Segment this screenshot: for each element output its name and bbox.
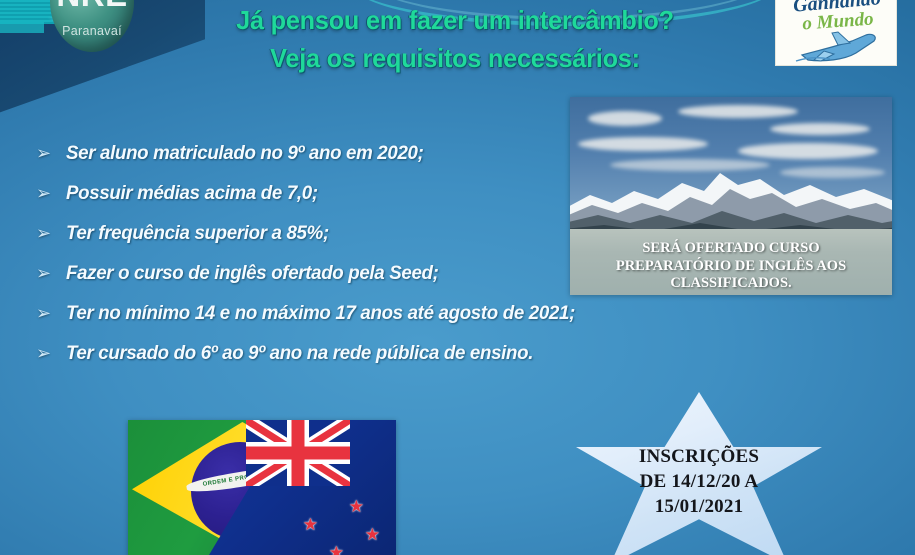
cloud-shape (738, 143, 878, 159)
nz-star-icon: ★ (329, 544, 344, 555)
airplane-icon (794, 31, 880, 65)
union-jack-icon (246, 420, 350, 486)
photo-caption-line-1: SERÁ OFERTADO CURSO (576, 240, 886, 258)
cloud-shape (588, 111, 662, 126)
requirement-text-6: Ter cursado do 6º ao 9º ano na rede públ… (66, 342, 738, 365)
inscriptions-line-1: INSCRIÇÕES (576, 444, 822, 469)
headline-line-1: Já pensou em fazer um intercâmbio? (145, 2, 766, 40)
bullet-arrow-icon: ➢ (36, 305, 66, 323)
nz-star-icon: ★ (303, 516, 318, 533)
inscriptions-text: INSCRIÇÕES DE 14/12/20 A 15/01/2021 (576, 444, 822, 519)
bullet-arrow-icon: ➢ (36, 265, 66, 283)
brazil-newzealand-flags-photo: ORDEM E PROGRESSO ★ ★ ★ ★ (128, 420, 396, 555)
nre-subtitle: Paranavaí (42, 24, 142, 38)
photo-caption-line-3: CLASSIFICADOS. (576, 275, 886, 293)
slide-headline: Já pensou em fazer um intercâmbio? Veja … (135, 2, 775, 77)
photo-caption-line-2: PREPARATÓRIO DE INGLÊS AOS (576, 258, 886, 276)
cloud-shape (770, 123, 870, 135)
bullet-arrow-icon: ➢ (36, 145, 66, 163)
photo-caption: SERÁ OFERTADO CURSO PREPARATÓRIO DE INGL… (570, 240, 892, 293)
inscriptions-line-2: DE 14/12/20 A (576, 469, 822, 494)
nre-logo: NRE Paranavaí (42, 0, 142, 72)
presentation-slide: NRE Paranavaí Ganhando o Mundo Já pensou… (0, 0, 915, 555)
nz-star-icon: ★ (365, 526, 380, 543)
mountain-ridge (570, 165, 892, 235)
cloud-shape (678, 105, 798, 118)
bullet-arrow-icon: ➢ (36, 225, 66, 243)
nz-star-icon: ★ (349, 498, 364, 515)
list-item: ➢ Ter cursado do 6º ao 9º ano na rede pú… (36, 342, 766, 382)
background-teal-band-secondary (0, 22, 44, 33)
bullet-arrow-icon: ➢ (36, 185, 66, 203)
ganhando-o-mundo-logo: Ganhando o Mundo (775, 0, 897, 66)
cloud-shape (578, 137, 708, 151)
requirement-text-5: Ter no mínimo 14 e no máximo 17 anos até… (66, 302, 738, 325)
headline-line-2: Veja os requisitos necessários: (145, 40, 766, 78)
mountain-lake-photo: SERÁ OFERTADO CURSO PREPARATÓRIO DE INGL… (570, 97, 892, 295)
list-item: ➢ Ter no mínimo 14 e no máximo 17 anos a… (36, 302, 766, 342)
bullet-arrow-icon: ➢ (36, 345, 66, 363)
inscriptions-star: INSCRIÇÕES DE 14/12/20 A 15/01/2021 (576, 392, 822, 555)
inscriptions-line-3: 15/01/2021 (576, 494, 822, 519)
nre-acronym: NRE (42, 0, 142, 14)
